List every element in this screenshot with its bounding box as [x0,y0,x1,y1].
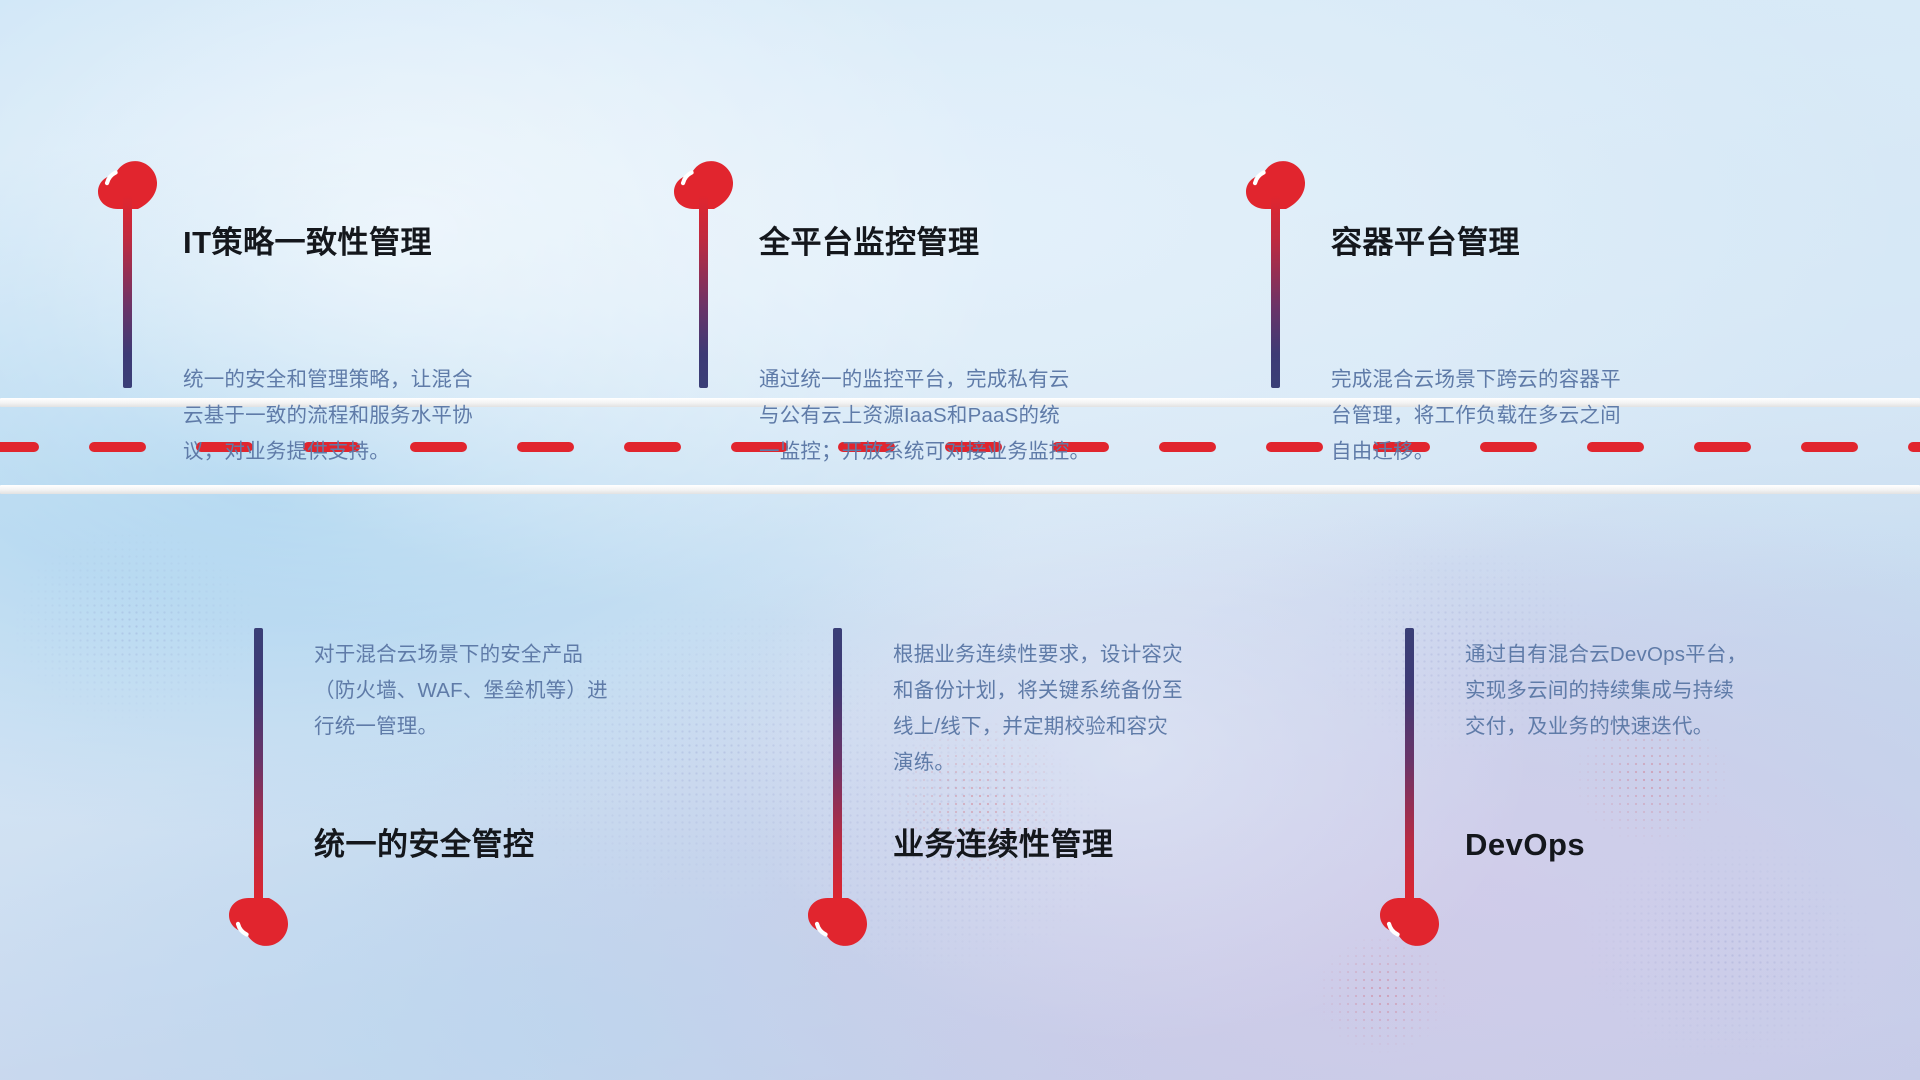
column-body: 完成混合云场景下跨云的容器平 台管理，将工作负载在多云之间 自由迁移。 [1331,362,1771,470]
connector-stem [1405,628,1414,906]
content-columns: IT策略一致性管理 统一的安全和管理策略，让混合 云基于一致的流程和服务水平协 … [0,0,1920,1080]
cloud-icon [1379,897,1441,947]
column-body: 通过自有混合云DevOps平台， 实现多云间的持续集成与持续 交付，及业务的快速… [1465,637,1905,745]
connector-stem [254,628,263,906]
column-body: 统一的安全和管理策略，让混合 云基于一致的流程和服务水平协 议，对业务提供支持。 [183,362,623,470]
column-title: 容器平台管理 [1331,226,1520,260]
column-title: DevOps [1465,828,1585,862]
column-title: 业务连续性管理 [893,828,1114,862]
cloud-icon [807,897,869,947]
connector-stem [833,628,842,906]
column-body: 通过统一的监控平台，完成私有云 与公有云上资源IaaS和PaaS的统 一监控；开… [759,362,1199,470]
connector-stem [1271,196,1280,388]
column-body: 根据业务连续性要求，设计容灾 和备份计划，将关键系统备份至 线上/线下，并定期校… [893,637,1333,781]
column-title: 统一的安全管控 [314,828,535,862]
connector-stem [699,196,708,388]
column-body: 对于混合云场景下的安全产品 （防火墙、WAF、堡垒机等）进 行统一管理。 [314,637,754,745]
column-title: IT策略一致性管理 [183,226,432,260]
cloud-icon [228,897,290,947]
column-title: 全平台监控管理 [759,226,980,260]
connector-stem [123,196,132,388]
